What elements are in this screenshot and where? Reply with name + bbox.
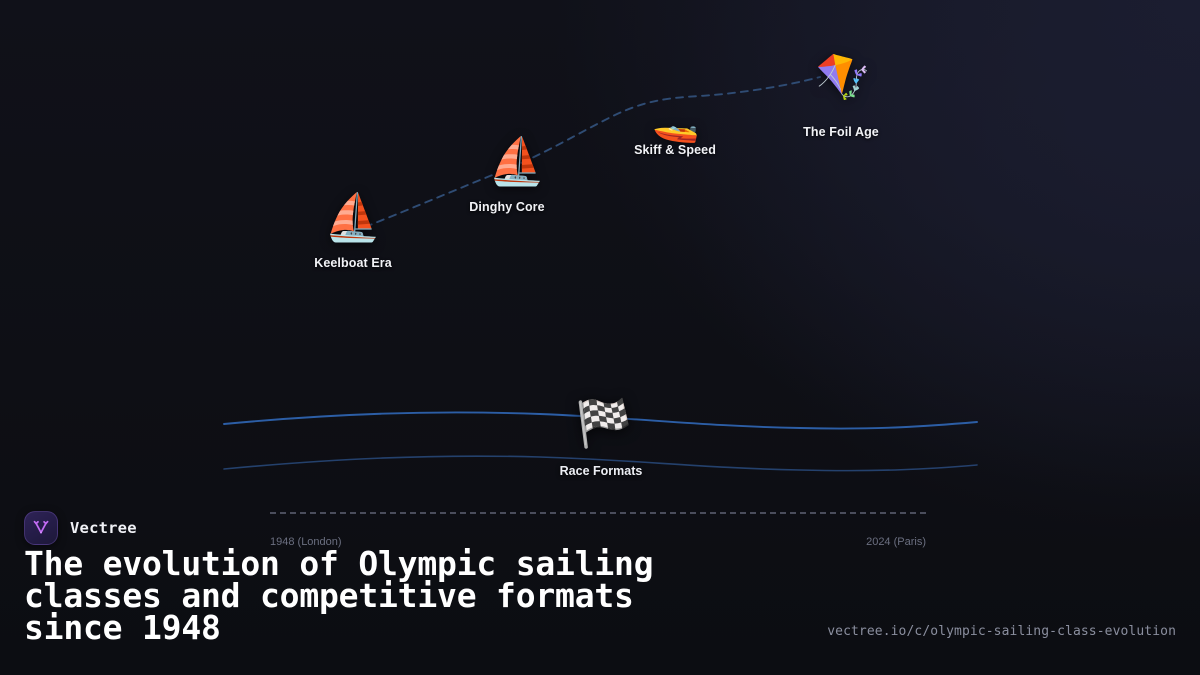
chequered-flag-icon: 🏁 — [575, 400, 632, 446]
node-label-keelboat-era: Keelboat Era — [314, 256, 392, 270]
timeline-end-label: 2024 (Paris) — [866, 536, 926, 548]
kite-icon: 🪁 — [816, 56, 871, 100]
node-label-skiff-and-speed: Skiff & Speed — [634, 143, 716, 157]
brand-lockup[interactable]: Vectree — [24, 511, 137, 545]
wave-band-label: Race Formats — [560, 464, 643, 478]
page-title: The evolution of Olympic sailing classes… — [24, 548, 764, 644]
source-url: vectree.io/c/olympic-sailing-class-evolu… — [827, 624, 1176, 639]
infographic-canvas: ⛵ Keelboat Era ⛵ Dinghy Core 🚤 Skiff & S… — [0, 0, 1200, 675]
node-label-the-foil-age: The Foil Age — [803, 125, 879, 139]
speedboat-icon: 🚤 — [652, 104, 699, 142]
sailboat-icon: ⛵ — [324, 194, 381, 240]
timeline-rule — [270, 512, 926, 514]
trend-connector-path — [365, 77, 820, 227]
sailboat-icon: ⛵ — [488, 138, 545, 184]
vectree-v-tree-icon — [24, 511, 58, 545]
brand-name: Vectree — [70, 519, 137, 537]
node-label-dinghy-core: Dinghy Core — [469, 200, 544, 214]
